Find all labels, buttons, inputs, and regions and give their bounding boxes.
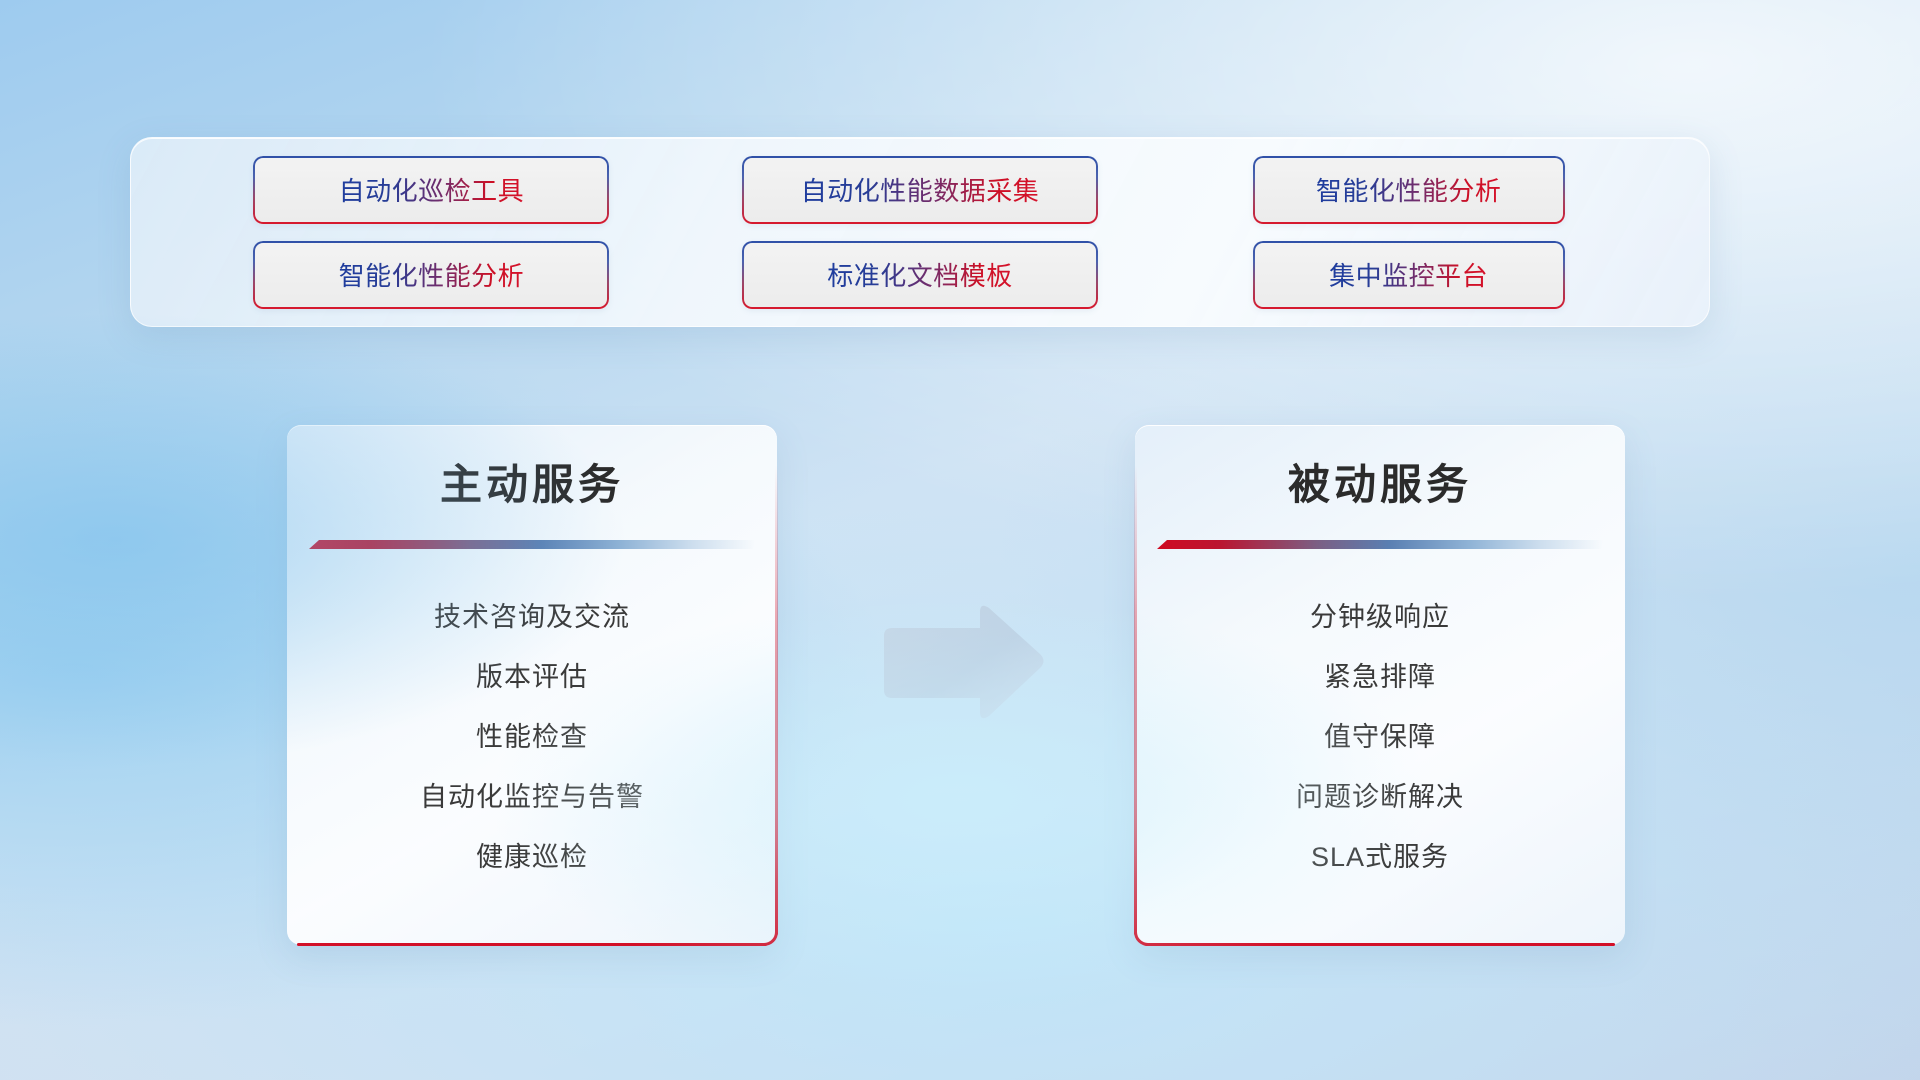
- list-item: 紧急排障: [1135, 654, 1625, 700]
- list-item: 值守保障: [1135, 714, 1625, 760]
- slide-canvas: 自动化巡检工具 智能化性能分析 自动化性能数据采集 标准化文档模板 智能化性能分…: [0, 0, 1920, 1080]
- card-accent-corner-bottom-left: [1134, 930, 1150, 946]
- capability-pill-automated-performance-data-collection[interactable]: 自动化性能数据采集: [742, 156, 1098, 224]
- list-item: 分钟级响应: [1135, 594, 1625, 640]
- proactive-card-divider: [309, 540, 755, 550]
- list-item: 自动化监控与告警: [287, 774, 777, 820]
- capability-pill-automation-inspection-tool[interactable]: 自动化巡检工具: [253, 156, 609, 224]
- capability-pill-label: 标准化文档模板: [827, 256, 1013, 293]
- capability-pill-label: 智能化性能分析: [1316, 171, 1502, 208]
- reactive-service-list: 分钟级响应 紧急排障 值守保障 问题诊断解决 SLA式服务: [1135, 594, 1625, 880]
- capability-pill-label: 自动化巡检工具: [339, 171, 525, 208]
- proactive-service-card: 主动服务 技术咨询及交流 版本评估 性能检查 自动化监控与告警 健康巡检: [287, 425, 777, 945]
- capability-pill-intelligent-performance-analysis-2[interactable]: 智能化性能分析: [1253, 156, 1565, 224]
- card-accent-edge-bottom: [1145, 943, 1615, 946]
- arrow-right-icon: [876, 602, 1046, 724]
- capability-pill-label: 集中监控平台: [1329, 256, 1488, 293]
- list-item: 问题诊断解决: [1135, 774, 1625, 820]
- list-item: 性能检查: [287, 714, 777, 760]
- list-item: 健康巡检: [287, 834, 777, 880]
- card-accent-corner-bottom-right: [762, 930, 778, 946]
- capability-pill-label: 自动化性能数据采集: [801, 171, 1040, 208]
- capability-pill-intelligent-performance-analysis-1[interactable]: 智能化性能分析: [253, 241, 609, 309]
- capability-pill-label: 智能化性能分析: [339, 256, 525, 293]
- proactive-card-title: 主动服务: [287, 425, 777, 512]
- list-item: 版本评估: [287, 654, 777, 700]
- capability-column-2: 自动化性能数据采集 标准化文档模板: [676, 156, 1165, 309]
- list-item: 技术咨询及交流: [287, 594, 777, 640]
- capability-column-3: 智能化性能分析 集中监控平台: [1164, 156, 1653, 309]
- capability-panel: 自动化巡检工具 智能化性能分析 自动化性能数据采集 标准化文档模板 智能化性能分…: [130, 137, 1710, 327]
- capability-column-1: 自动化巡检工具 智能化性能分析: [187, 156, 676, 309]
- capability-pill-standardized-document-template[interactable]: 标准化文档模板: [742, 241, 1098, 309]
- list-item: SLA式服务: [1135, 834, 1625, 880]
- card-accent-edge-bottom: [297, 943, 767, 946]
- reactive-card-divider: [1157, 540, 1603, 550]
- reactive-service-card: 被动服务 分钟级响应 紧急排障 值守保障 问题诊断解决 SLA式服务: [1135, 425, 1625, 945]
- reactive-card-title: 被动服务: [1135, 425, 1625, 512]
- capability-pill-centralized-monitoring-platform[interactable]: 集中监控平台: [1253, 241, 1565, 309]
- proactive-service-list: 技术咨询及交流 版本评估 性能检查 自动化监控与告警 健康巡检: [287, 594, 777, 880]
